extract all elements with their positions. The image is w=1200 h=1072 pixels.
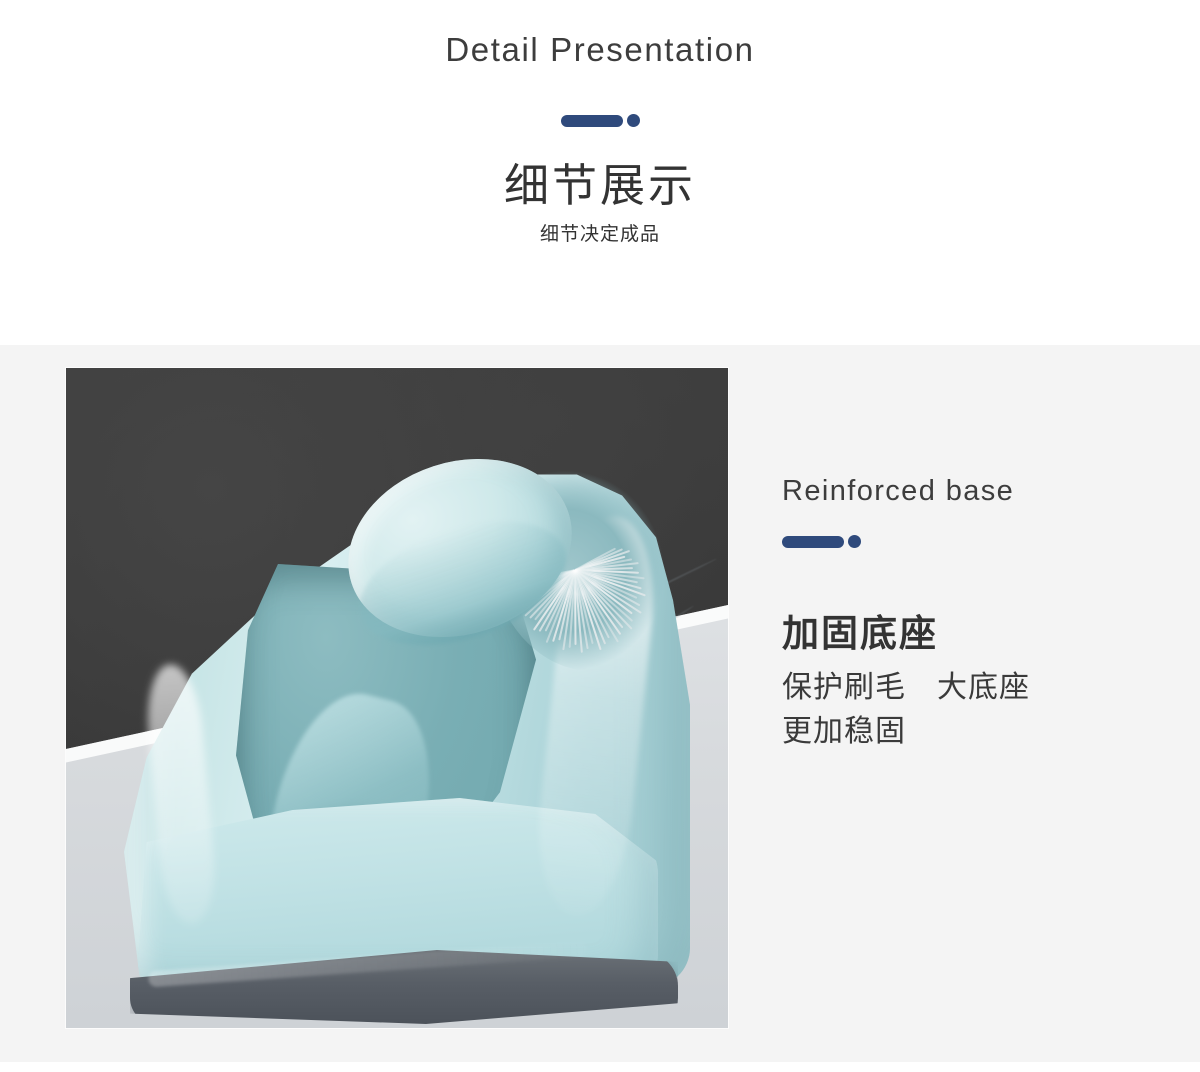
feature-line-1: 保护刷毛 大底座 bbox=[782, 666, 1112, 710]
divider-dot-icon bbox=[848, 535, 861, 548]
page-subtitle-cn: 细节决定成品 bbox=[540, 223, 660, 247]
divider-bar-icon bbox=[782, 536, 844, 548]
header-divider bbox=[561, 114, 640, 127]
divider-bar-icon bbox=[561, 115, 623, 127]
feature-title-en: Reinforced base bbox=[782, 473, 1112, 509]
brush-holder bbox=[124, 464, 690, 1024]
feature-title-cn: 加固底座 bbox=[782, 612, 1112, 656]
feature-line-2: 更加稳固 bbox=[782, 710, 1112, 754]
detail-presentation-page: Detail Presentation 细节展示 细节决定成品 bbox=[0, 0, 1200, 1072]
page-title-cn: 细节展示 bbox=[504, 160, 696, 212]
feature-divider bbox=[782, 535, 1112, 548]
divider-dot-icon bbox=[627, 114, 640, 127]
footer-spacer bbox=[0, 1062, 1200, 1072]
scrub-brush bbox=[346, 462, 676, 692]
feature-text-column: Reinforced base 加固底座 保护刷毛 大底座 更加稳固 bbox=[782, 473, 1112, 754]
product-photo-canvas bbox=[66, 368, 728, 1028]
content-section: Reinforced base 加固底座 保护刷毛 大底座 更加稳固 bbox=[0, 345, 1200, 1062]
page-title-en: Detail Presentation bbox=[445, 30, 754, 70]
product-photo bbox=[66, 368, 728, 1028]
header-section: Detail Presentation 细节展示 细节决定成品 bbox=[0, 0, 1200, 345]
